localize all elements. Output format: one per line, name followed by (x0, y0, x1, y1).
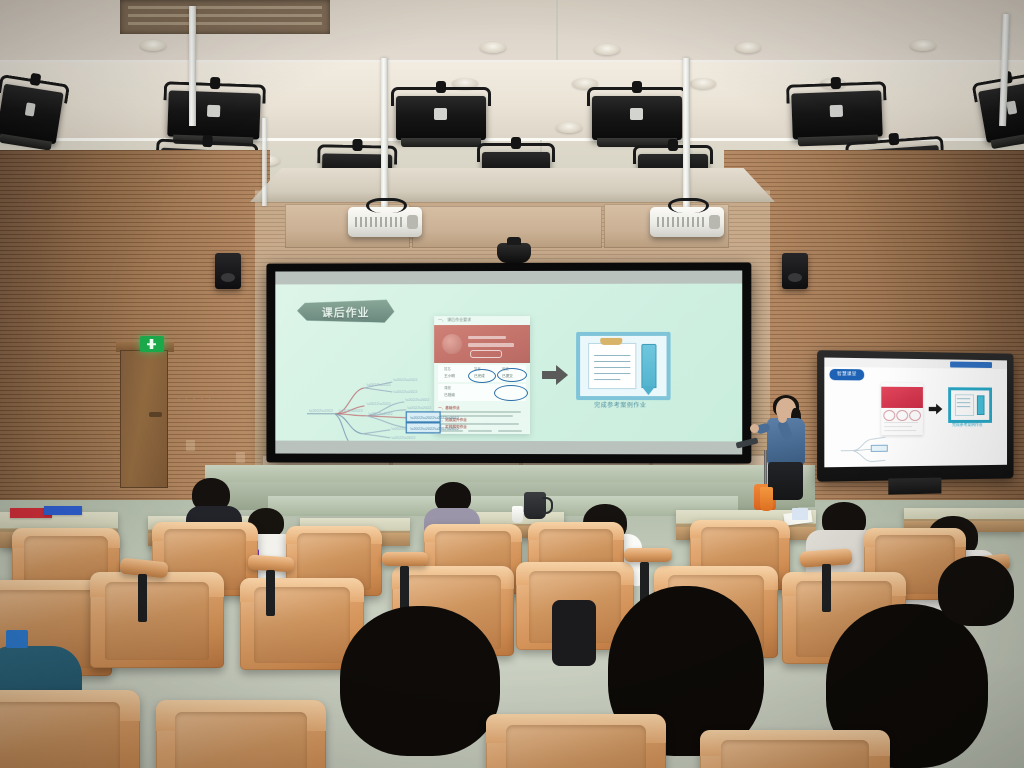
svg-text:\u2022\u2022: \u2022\u2022 (393, 389, 417, 394)
arrow-right-icon (542, 364, 568, 386)
phone-mockup-small (881, 383, 923, 436)
speaker-icon (782, 253, 808, 289)
exit-sign-icon (140, 336, 164, 352)
svg-text:\u2022\u2022: \u2022\u2022 (309, 408, 333, 413)
cup (512, 506, 523, 523)
stage-light (791, 90, 883, 139)
paper (588, 343, 636, 389)
svg-text:\u2022\u2022: \u2022\u2022 (366, 382, 390, 387)
lecture-hall-photo: · · · · · · · · · · · 课后作业 一、 课后作业要求 (0, 0, 1024, 768)
svg-text:\u2022\u2022: \u2022\u2022 (366, 401, 390, 406)
slide-canvas: · · · · · · 课后作业 一、 课后作业要求 姓名 (275, 284, 742, 442)
phone-header-label: 一、 课后作业要求 (438, 317, 526, 324)
projection-screen[interactable]: · · · · · · 课后作业 一、 课后作业要求 姓名 (266, 262, 751, 463)
projector-icon (650, 207, 724, 237)
stage-light (167, 90, 261, 139)
clip (600, 338, 622, 345)
phone-device (6, 630, 28, 648)
wall-sign-label: · · · · · (178, 396, 213, 402)
cup (760, 487, 773, 511)
side-display-caption: 完成参考案例作业 (937, 422, 998, 428)
slide-title: 课后作业 (297, 304, 394, 320)
svg-text:\u2022\u2022: \u2022\u2022 (405, 397, 429, 402)
auditorium-seat[interactable] (90, 572, 224, 668)
auditorium-seat[interactable] (700, 730, 890, 768)
ceiling-downlight-icon (910, 40, 936, 51)
ceiling-downlight-icon (480, 42, 506, 53)
ceiling-seam (556, 0, 558, 60)
ceiling-downlight-icon (556, 122, 582, 133)
mindmap-diagram: \u2022\u2022 \u2022\u2022 \u2022\u2022 \… (305, 370, 484, 441)
stage-light (592, 96, 682, 140)
monitor-stand (888, 478, 941, 495)
projector-mount-pole (683, 58, 690, 216)
side-display-screen: 智慧课堂 完成参考案例作业 (824, 358, 1007, 468)
slide-tab-badge (950, 361, 992, 368)
arrow-right-icon (929, 403, 943, 415)
dome-camera-icon (497, 243, 531, 263)
thermos-kettle (524, 492, 546, 519)
projector-icon (348, 207, 422, 237)
avatar (442, 334, 462, 354)
audience-person (340, 606, 500, 756)
projector-mount-pole (381, 58, 388, 216)
clipboard-icon (576, 332, 670, 400)
ceiling-downlight-icon (594, 44, 620, 55)
auditorium-seat[interactable] (486, 714, 666, 768)
stage-light (396, 96, 486, 140)
svg-text:\u2022\u2022\u2022\u2022: \u2022\u2022\u2022\u2022 (410, 426, 459, 431)
ceiling-downlight-icon (690, 78, 716, 89)
ceiling-vent (120, 0, 330, 34)
svg-text:\u2022\u2022: \u2022\u2022 (391, 435, 415, 440)
svg-text:\u2022\u2022: \u2022\u2022 (407, 405, 431, 410)
annotation-ellipse (494, 385, 528, 401)
ceiling-soffit (250, 168, 775, 202)
audience-person (938, 556, 1014, 626)
backpack (552, 600, 596, 666)
stage-light (0, 84, 64, 145)
notebook (44, 506, 82, 515)
svg-text:\u2022\u2022: \u2022\u2022 (339, 408, 363, 413)
projection-screen-surface: · · · · · · 课后作业 一、 课后作业要求 姓名 (275, 270, 742, 454)
pencil-icon (641, 344, 656, 388)
side-display-monitor[interactable]: 智慧课堂 完成参考案例作业 (817, 350, 1013, 482)
projector-mount-pole (262, 118, 267, 206)
clipboard-icon (948, 387, 992, 423)
brand-logo: 智慧课堂 (829, 369, 864, 381)
mindmap-diagram-small (839, 433, 896, 467)
paper-sheet (792, 508, 808, 520)
slide-title-banner: 课后作业 (297, 298, 394, 324)
exit-door[interactable] (120, 350, 168, 488)
result-caption: 完成参考案例作业 (570, 400, 671, 409)
svg-text:\u2022\u2022\u2022\u2022: \u2022\u2022\u2022\u2022 (410, 415, 459, 420)
brand-logo-label: 智慧课堂 (829, 371, 864, 378)
svg-text:\u2022\u2022: \u2022\u2022 (368, 411, 392, 416)
auditorium-seat[interactable] (0, 690, 140, 768)
auditorium-seat[interactable] (156, 700, 326, 768)
speaker-icon (215, 253, 241, 289)
svg-text:\u2022\u2022: \u2022\u2022 (393, 377, 417, 382)
annotation-ellipse (497, 368, 527, 382)
phone-hero-card (434, 325, 530, 363)
ceiling-seam (0, 60, 1024, 62)
ceiling-downlight-icon (140, 40, 166, 51)
slide-window-bar: · · · · · · (275, 284, 742, 285)
ceiling-downlight-icon (735, 42, 761, 53)
wall-socket (236, 452, 245, 463)
projector-mount-pole (189, 6, 196, 126)
wall-socket (186, 440, 195, 451)
